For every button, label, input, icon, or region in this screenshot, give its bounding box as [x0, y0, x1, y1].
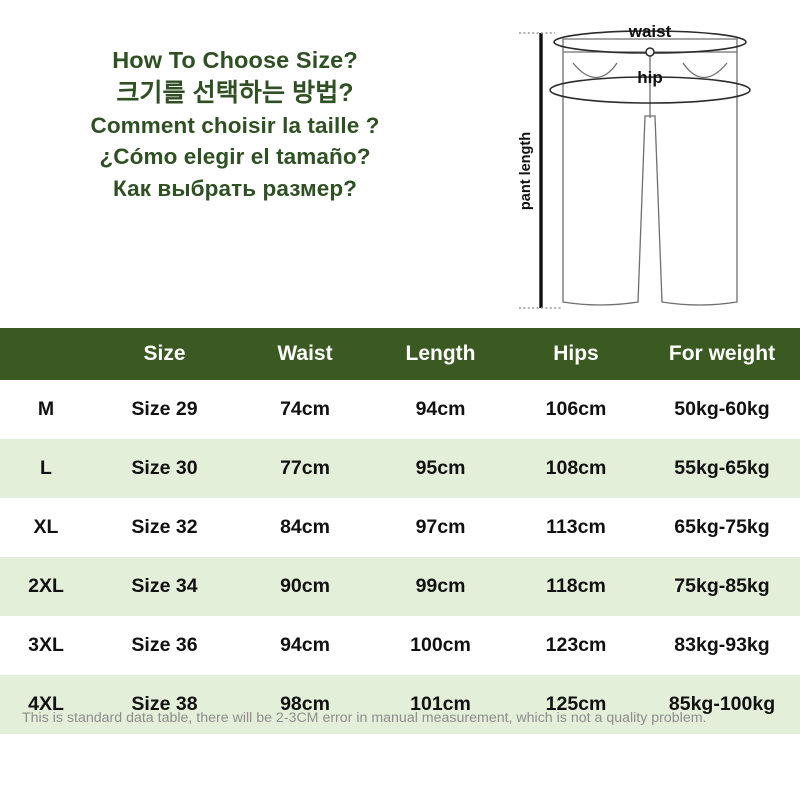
heading-english: How To Choose Size?	[0, 46, 470, 76]
hip-label: hip	[637, 68, 663, 87]
header-length: Length	[373, 342, 508, 366]
top-section: How To Choose Size? 크기를 선택하는 방법? Comment…	[0, 0, 800, 328]
pant-length-label: pant length	[518, 132, 534, 210]
table-row: XL Size 32 84cm 97cm 113cm 65kg-75kg	[0, 498, 800, 557]
measurement-disclaimer: This is standard data table, there will …	[0, 710, 800, 726]
cell-weight: 75kg-85kg	[644, 575, 800, 598]
multilingual-heading-block: How To Choose Size? 크기를 선택하는 방법? Comment…	[0, 46, 470, 203]
header-size: Size	[92, 342, 237, 366]
header-hips: Hips	[508, 342, 644, 366]
cell-hips: 108cm	[508, 457, 644, 480]
cell-length: 97cm	[373, 516, 508, 539]
cell-size: 2XL	[0, 575, 92, 598]
cell-number: Size 30	[92, 457, 237, 480]
cell-number: Size 32	[92, 516, 237, 539]
cell-length: 100cm	[373, 634, 508, 657]
cell-number: Size 34	[92, 575, 237, 598]
cell-waist: 77cm	[237, 457, 373, 480]
heading-russian: Как выбрать размер?	[0, 175, 470, 203]
table-row: M Size 29 74cm 94cm 106cm 50kg-60kg	[0, 380, 800, 439]
cell-size: 3XL	[0, 634, 92, 657]
cell-hips: 113cm	[508, 516, 644, 539]
cell-size: XL	[0, 516, 92, 539]
table-header-row: Size Waist Length Hips For weight	[0, 328, 800, 380]
cell-number: Size 29	[92, 398, 237, 421]
heading-spanish: ¿Cómo elegir el tamaño?	[0, 143, 470, 171]
cell-size: L	[0, 457, 92, 480]
cell-hips: 118cm	[508, 575, 644, 598]
table-row: 3XL Size 36 94cm 100cm 123cm 83kg-93kg	[0, 616, 800, 675]
cell-hips: 106cm	[508, 398, 644, 421]
table-row: L Size 30 77cm 95cm 108cm 55kg-65kg	[0, 439, 800, 498]
cell-waist: 94cm	[237, 634, 373, 657]
cell-waist: 74cm	[237, 398, 373, 421]
size-chart-page: How To Choose Size? 크기를 선택하는 방법? Comment…	[0, 0, 800, 800]
cell-length: 99cm	[373, 575, 508, 598]
cell-size: M	[0, 398, 92, 421]
heading-french: Comment choisir la taille ?	[0, 112, 470, 140]
waist-label: waist	[628, 22, 672, 41]
table-row: 2XL Size 34 90cm 99cm 118cm 75kg-85kg	[0, 557, 800, 616]
cell-length: 94cm	[373, 398, 508, 421]
button-icon	[646, 48, 654, 56]
cell-weight: 65kg-75kg	[644, 516, 800, 539]
cell-weight: 55kg-65kg	[644, 457, 800, 480]
header-for-weight: For weight	[644, 342, 800, 366]
cell-weight: 83kg-93kg	[644, 634, 800, 657]
heading-korean: 크기를 선택하는 방법?	[0, 78, 470, 110]
pants-measurement-diagram: waist hip pant length	[505, 6, 800, 326]
header-waist: Waist	[237, 342, 373, 366]
cell-weight: 50kg-60kg	[644, 398, 800, 421]
cell-hips: 123cm	[508, 634, 644, 657]
cell-waist: 84cm	[237, 516, 373, 539]
cell-waist: 90cm	[237, 575, 373, 598]
cell-length: 95cm	[373, 457, 508, 480]
size-table: Size Waist Length Hips For weight M Size…	[0, 328, 800, 734]
cell-number: Size 36	[92, 634, 237, 657]
